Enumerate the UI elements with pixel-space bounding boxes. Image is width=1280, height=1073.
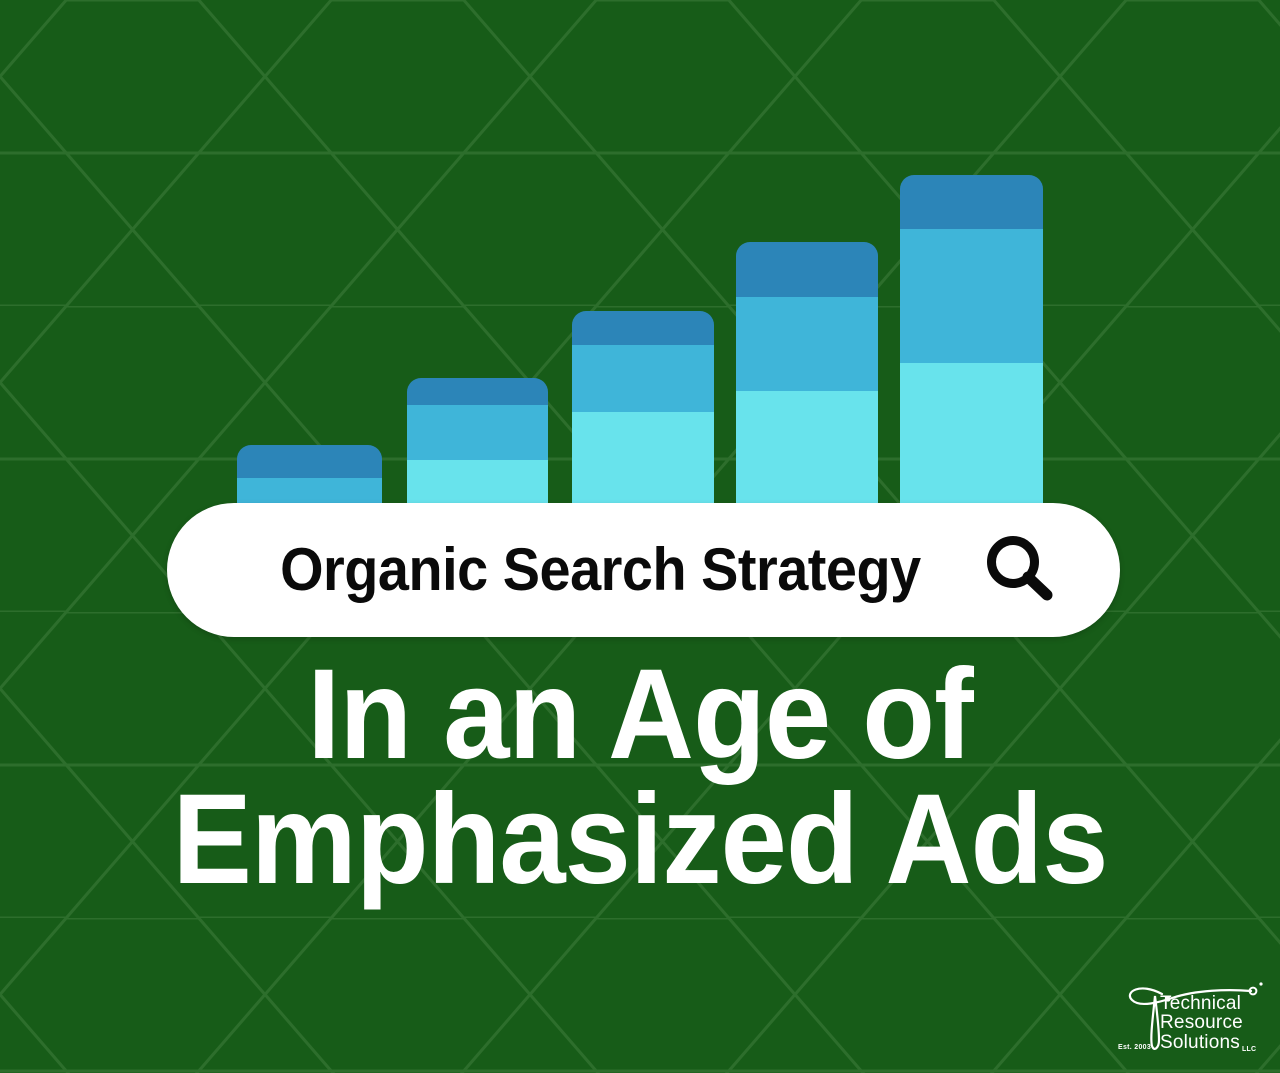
bar-chart [0, 0, 1280, 520]
search-bar[interactable]: Organic Search Strategy [167, 503, 1120, 637]
bar-segment-bottom [900, 363, 1043, 520]
logo-llc-suffix: LLC [1242, 1046, 1256, 1053]
headline-line-1: In an Age of [45, 652, 1235, 777]
bar-segment-middle [407, 405, 548, 460]
bar-segment-top [237, 445, 382, 478]
chart-bar [736, 242, 878, 520]
bar-segment-middle [572, 345, 714, 412]
page-title: In an Age of Emphasized Ads [0, 652, 1280, 903]
chart-bar [900, 175, 1043, 520]
bar-segment-bottom [736, 391, 878, 520]
bar-segment-top [736, 242, 878, 297]
search-icon[interactable] [981, 531, 1059, 609]
logo-established-text: Est. 2003 [1118, 1044, 1151, 1051]
chart-bar [407, 378, 548, 520]
poster-canvas: Organic Search Strategy In an Age of Emp… [0, 0, 1280, 1073]
company-logo[interactable]: Technical Resource Solutions LLC Est. 20… [1110, 972, 1270, 1068]
logo-word-solutions: Solutions [1160, 1033, 1243, 1052]
chart-bar [572, 311, 714, 520]
logo-word-resource: Resource [1160, 1013, 1243, 1032]
bar-segment-top [572, 311, 714, 345]
bar-segment-top [407, 378, 548, 405]
logo-wordmark: Technical Resource Solutions [1160, 994, 1243, 1052]
bar-segment-top [900, 175, 1043, 229]
bar-segment-middle [736, 297, 878, 391]
headline-line-2: Emphasized Ads [45, 777, 1235, 902]
search-query-text[interactable]: Organic Search Strategy [280, 540, 921, 600]
logo-word-technical: Technical [1160, 994, 1243, 1013]
search-bar-content: Organic Search Strategy [256, 531, 1059, 609]
bar-segment-middle [900, 229, 1043, 363]
